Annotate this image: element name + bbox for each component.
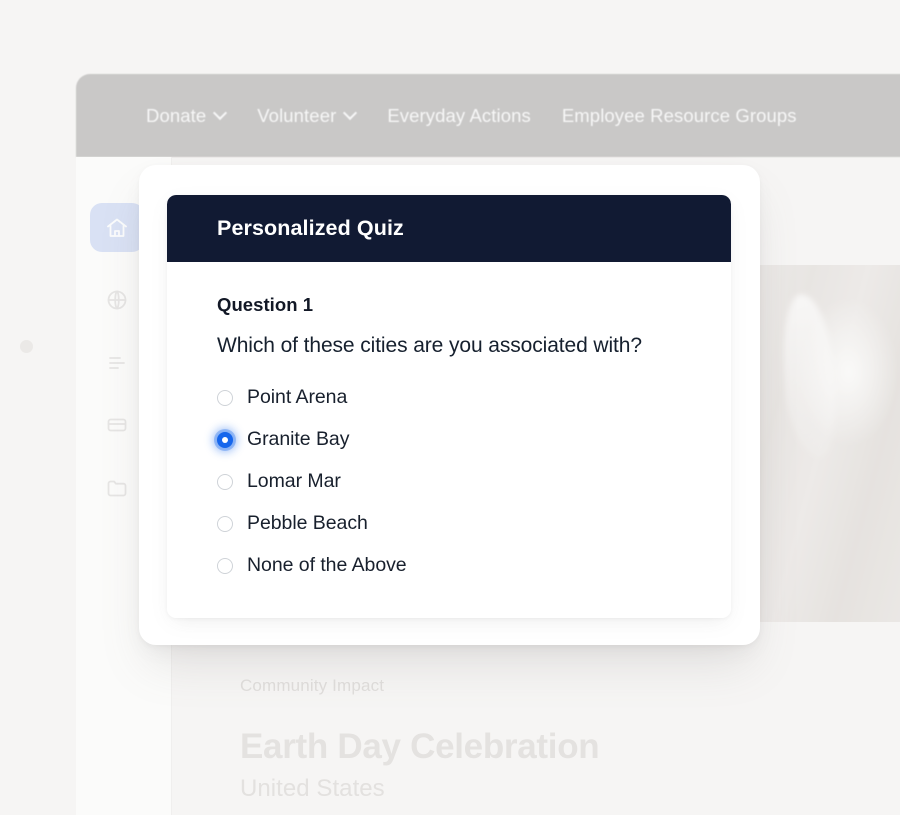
radio-icon[interactable] xyxy=(217,516,233,532)
nav-item-volunteer[interactable]: Volunteer xyxy=(257,105,356,127)
nav-item-donate[interactable]: Donate xyxy=(146,105,226,127)
chevron-down-icon xyxy=(215,108,226,119)
home-icon xyxy=(105,216,129,240)
option-label: Lomar Mar xyxy=(247,472,341,492)
hero-image-elephant xyxy=(737,265,900,622)
option-label: None of the Above xyxy=(247,556,407,576)
option-row-lomar-mar[interactable]: Lomar Mar xyxy=(217,461,681,503)
sidebar-item-folder[interactable] xyxy=(90,463,144,512)
quiz-body: Question 1 Which of these cities are you… xyxy=(167,262,731,587)
option-row-none-of-the-above[interactable]: None of the Above xyxy=(217,545,681,587)
quiz-title: Personalized Quiz xyxy=(217,216,404,241)
chevron-down-icon xyxy=(345,108,356,119)
options-list: Point Arena Granite Bay Lomar Mar Pebble… xyxy=(217,377,681,587)
background-article: Community Impact Earth Day Celebration U… xyxy=(240,676,760,803)
article-title: Earth Day Celebration xyxy=(240,727,760,766)
option-row-pebble-beach[interactable]: Pebble Beach xyxy=(217,503,681,545)
nav-item-label: Everyday Actions xyxy=(387,105,531,127)
sidebar-item-home[interactable] xyxy=(90,203,144,252)
nav-item-label: Donate xyxy=(146,105,206,127)
option-label: Granite Bay xyxy=(247,430,349,450)
quiz-modal: Personalized Quiz Question 1 Which of th… xyxy=(139,165,760,645)
radio-icon[interactable] xyxy=(217,558,233,574)
quiz-header: Personalized Quiz xyxy=(167,195,731,262)
radio-icon-selected[interactable] xyxy=(217,432,233,448)
question-number-label: Question 1 xyxy=(217,294,681,316)
sidebar-item-wallet[interactable] xyxy=(90,400,144,449)
article-country: United States xyxy=(240,775,760,803)
question-text: Which of these cities are you associated… xyxy=(217,334,681,358)
sidebar-item-globe[interactable] xyxy=(90,275,144,324)
nav-item-label: Employee Resource Groups xyxy=(562,105,797,127)
folder-icon xyxy=(105,476,129,500)
nav-item-everyday-actions[interactable]: Everyday Actions xyxy=(387,105,531,127)
option-row-point-arena[interactable]: Point Arena xyxy=(217,377,681,419)
option-label: Pebble Beach xyxy=(247,514,368,534)
nav-item-label: Volunteer xyxy=(257,105,336,127)
globe-icon xyxy=(105,288,129,312)
wallet-icon xyxy=(105,413,129,437)
article-eyebrow: Community Impact xyxy=(240,676,760,696)
option-row-granite-bay[interactable]: Granite Bay xyxy=(217,419,681,461)
sidebar-item-list[interactable] xyxy=(90,338,144,387)
radio-icon[interactable] xyxy=(217,474,233,490)
radio-icon[interactable] xyxy=(217,390,233,406)
top-navigation-bar: Donate Volunteer Everyday Actions Employ… xyxy=(76,74,900,157)
nav-item-employee-resource-groups[interactable]: Employee Resource Groups xyxy=(562,105,797,127)
hero-decoration-dot xyxy=(20,340,33,353)
option-label: Point Arena xyxy=(247,388,347,408)
list-icon xyxy=(105,351,129,375)
quiz-card: Personalized Quiz Question 1 Which of th… xyxy=(167,195,731,618)
